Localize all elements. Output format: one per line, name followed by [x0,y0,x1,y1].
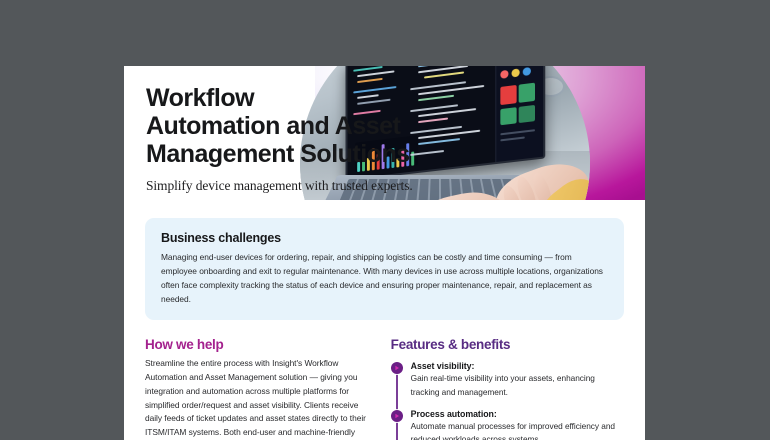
business-challenges-body: Managing end-user devices for ordering, … [161,251,608,306]
feature-item: Process automation: Automate manual proc… [411,409,624,440]
page-title-line-3: Management Solutions [146,140,410,168]
play-arrow-bullet-icon [391,410,403,422]
hero-section: Workflow Automation and Asset Management… [124,66,645,200]
business-challenges-section: Business challenges Managing end-user de… [124,200,645,320]
hero-text-block: Workflow Automation and Asset Management… [146,84,446,194]
page-title: Workflow Automation and Asset Management… [146,84,446,168]
features-list: Asset visibility: Gain real-time visibil… [391,361,624,440]
how-we-help-body: Streamline the entire process with Insig… [145,357,371,440]
how-we-help-heading: How we help [145,337,371,352]
feature-description: Gain real-time visibility into your asse… [411,372,624,398]
features-benefits-heading: Features & benefits [391,337,624,352]
document-page: Workflow Automation and Asset Management… [124,66,645,440]
content-columns: How we help Streamline the entire proces… [124,320,645,440]
page-title-line-1: Workflow [146,84,254,112]
feature-description: Automate manual processes for improved e… [411,420,624,440]
screen-dashboard-panel [495,66,543,162]
features-benefits-column: Features & benefits Asset visibility: Ga… [391,337,624,440]
business-challenges-heading: Business challenges [161,231,608,245]
page-subtitle: Simplify device management with trusted … [146,178,446,194]
page-title-line-2: Automation and Asset [146,112,400,140]
play-arrow-bullet-icon [391,362,403,374]
how-we-help-column: How we help Streamline the entire proces… [145,337,371,440]
feature-item: Asset visibility: Gain real-time visibil… [411,361,624,398]
business-challenges-card: Business challenges Managing end-user de… [145,218,624,320]
feature-title: Asset visibility: [411,361,624,371]
screenshot-viewport: Workflow Automation and Asset Management… [0,0,770,440]
feature-title: Process automation: [411,409,624,419]
